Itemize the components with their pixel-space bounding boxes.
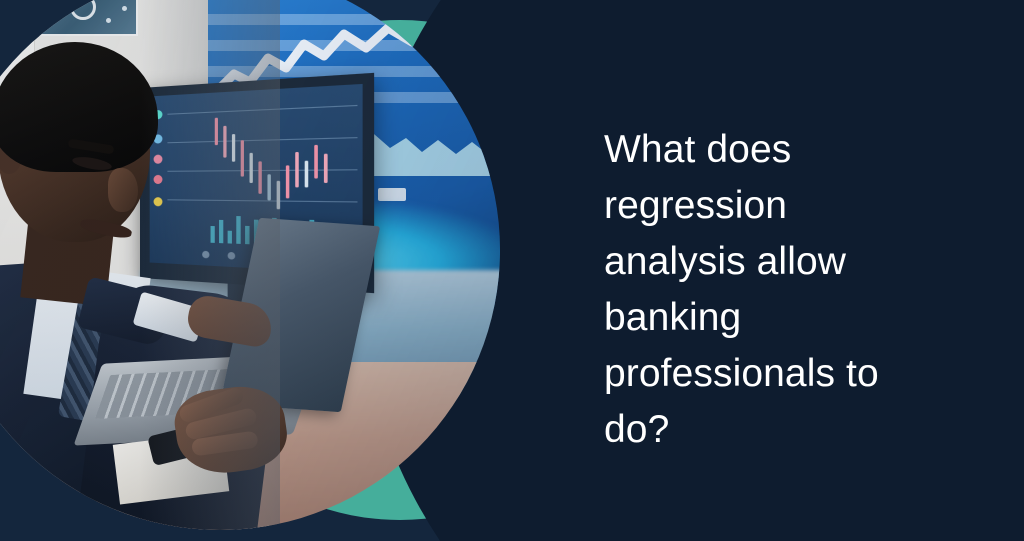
article-hero-banner: What does regression analysis allow bank… [0,0,1024,541]
wall-shadow [140,0,280,530]
page-title: What does regression analysis allow bank… [604,122,904,458]
hero-photo [0,0,500,530]
poster-dot [106,18,111,23]
poster-dot [122,6,127,11]
wall-poster [28,0,138,36]
candlestick [324,154,328,183]
poster-dot [44,18,49,23]
candlestick [286,165,289,198]
candlestick [305,161,309,188]
poster-ring-graphic [70,0,96,20]
poster-dot [62,6,67,11]
nose [108,168,138,212]
candlestick [295,152,299,187]
hero-photo-circle [0,0,500,530]
screen-tile [378,188,406,201]
candlestick [314,145,318,179]
